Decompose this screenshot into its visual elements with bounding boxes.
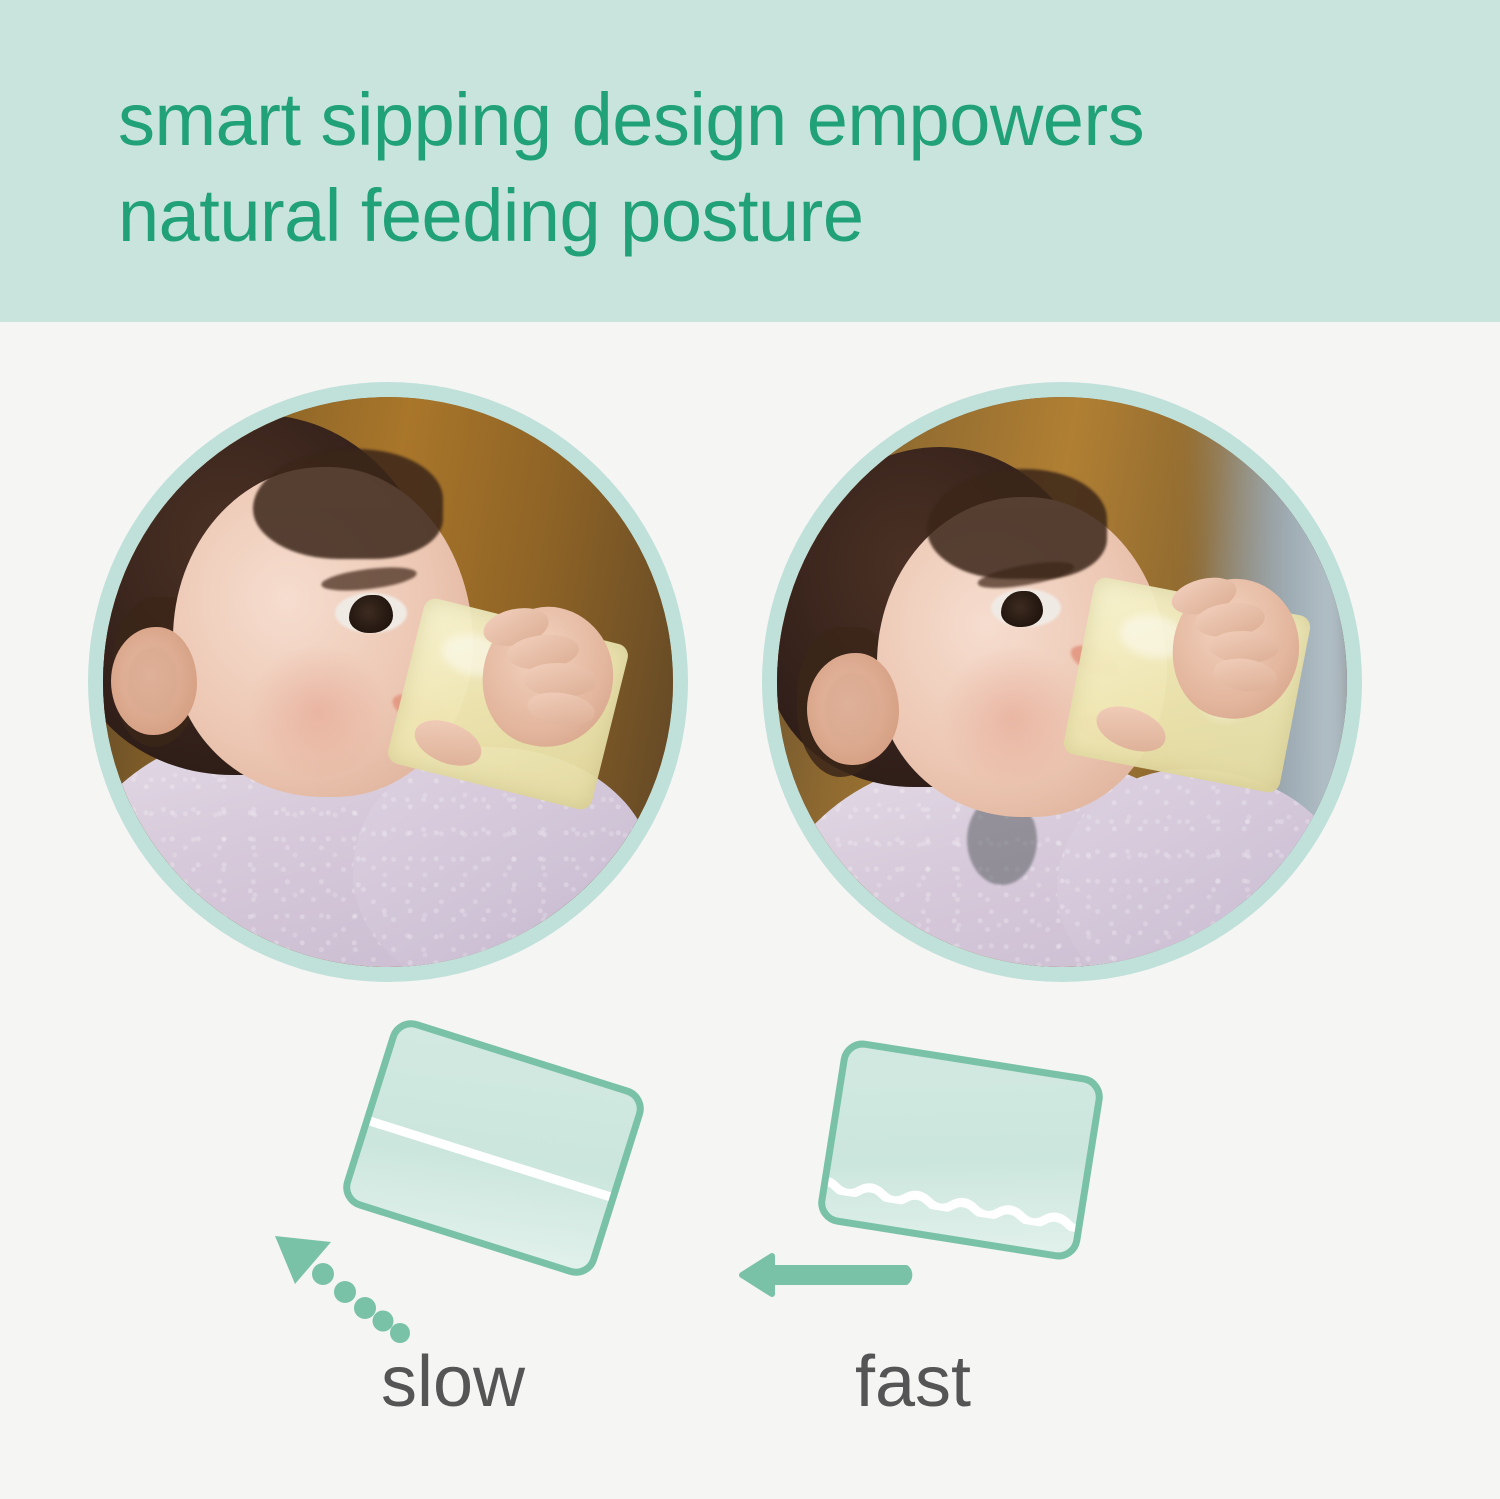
diagram-fast: fast [710,1022,1190,1499]
photo-left [103,397,673,967]
flow-arrow-fast [730,1240,920,1310]
speed-label-slow: slow [213,1342,693,1422]
liquid-level-flat [345,1110,635,1209]
flow-arrow-slow [269,1218,409,1328]
liquid-level-wavy [815,1172,1092,1234]
diagram-slow: slow [245,1022,725,1499]
speed-diagram-row: slow fast [0,1022,1500,1499]
bottle-illustration-fast [815,1037,1106,1262]
header-banner: smart sipping design empowers natural fe… [0,0,1500,322]
photo-comparison-row [0,322,1500,1022]
page-title: smart sipping design empowers natural fe… [118,72,1438,264]
speed-label-fast: fast [673,1342,1153,1422]
photo-circle-right [762,382,1362,982]
photo-circle-left [88,382,688,982]
photo-right [777,397,1347,967]
